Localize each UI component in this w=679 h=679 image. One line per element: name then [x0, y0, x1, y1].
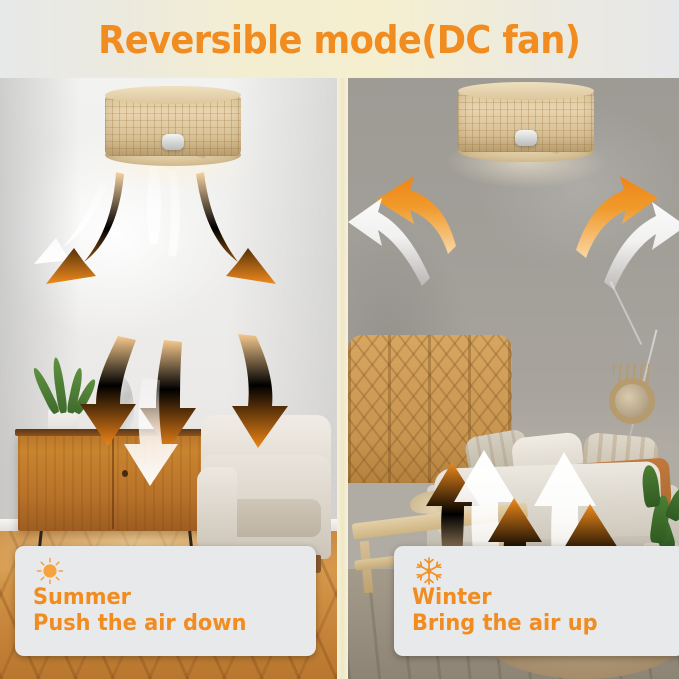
- card-summer[interactable]: Summer Push the air down: [15, 546, 316, 656]
- arrow-orange-upper-right: [196, 172, 276, 284]
- page-title: Reversible mode(DC fan): [98, 21, 580, 59]
- card-description: Push the air down: [33, 613, 302, 636]
- arrow-white-left: [34, 182, 108, 264]
- reversible-mode-infographic: Reversible mode(DC fan): [0, 0, 679, 679]
- arrow-orange-top-right: [576, 176, 658, 258]
- airflow-plume-white: [147, 166, 161, 244]
- card-season-label: Summer: [33, 587, 302, 610]
- panel-divider: [337, 78, 348, 679]
- arrow-orange-down-right: [232, 334, 288, 448]
- sun-icon: [33, 556, 67, 586]
- header-banner: Reversible mode(DC fan): [0, 0, 679, 78]
- comparison-panels: Summer Push the air down: [0, 78, 679, 679]
- arrow-orange-upper-left: [46, 172, 124, 284]
- arrow-orange-top-left: [376, 176, 456, 254]
- panel-summer: Summer Push the air down: [0, 78, 337, 679]
- airflow-plume-white: [168, 170, 180, 256]
- panel-winter: Winter Bring the air up: [348, 78, 679, 679]
- card-description: Bring the air up: [412, 613, 671, 636]
- card-season-label: Winter: [412, 587, 671, 610]
- snowflake-icon: [412, 556, 446, 586]
- arrow-orange-down-left: [80, 336, 136, 446]
- card-winter[interactable]: Winter Bring the air up: [394, 546, 679, 656]
